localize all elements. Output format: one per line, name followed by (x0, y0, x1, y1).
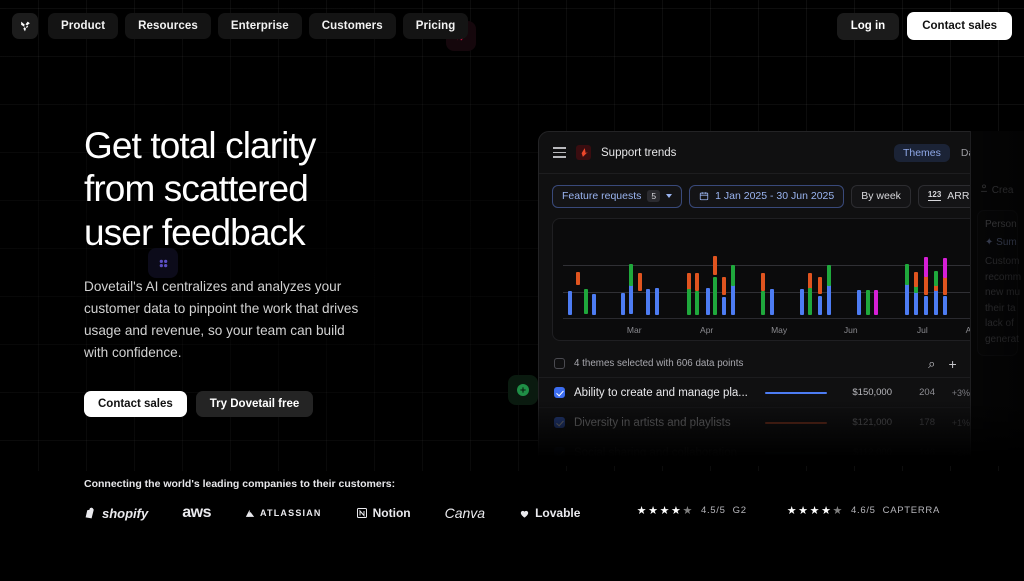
create-label: Crea (992, 185, 1014, 196)
chart-bar (713, 277, 717, 315)
rating-score: 4.6/5 (851, 505, 876, 516)
trend-sparkline (765, 452, 827, 454)
chart-bar (914, 272, 918, 288)
x-axis-tick: Jun (844, 325, 858, 335)
chart-bar (761, 273, 765, 291)
nav-item-product[interactable]: Product (48, 13, 118, 39)
summary-body: Customrecommnew mutheir talack ofgenerat (985, 254, 1010, 347)
theme-value: $112,000 (836, 447, 892, 458)
theme-delta: +3% (944, 388, 970, 398)
chart-bar (722, 277, 726, 295)
chart-bar (800, 289, 804, 315)
notion-logo: Notion (356, 506, 411, 520)
chart-bar (914, 289, 918, 315)
chart-bar (943, 277, 947, 295)
chart-bar (924, 276, 928, 295)
chart-baseline (563, 318, 977, 319)
dashboard-card: Support trends Themes Data points Featur… (538, 131, 1024, 465)
hamburger-menu-icon[interactable] (553, 147, 566, 157)
chart-bar (866, 290, 870, 316)
chart-bar (934, 289, 938, 315)
chart-bar (646, 289, 650, 315)
chart-bar (695, 273, 699, 290)
footer-label: Connecting the world's leading companies… (84, 478, 395, 490)
chart-bar (818, 277, 822, 294)
dovetail-logo-icon[interactable] (12, 13, 38, 39)
atlassian-logo: ATLASSIAN (245, 508, 322, 519)
filter-feature-requests[interactable]: Feature requests 5 (552, 185, 682, 208)
date-range-label: 1 Jan 2025 - 30 Jun 2025 (715, 190, 834, 202)
chart-bar (827, 265, 831, 287)
trend-sparkline (765, 392, 827, 394)
chart-bar (629, 264, 633, 287)
chart-bar (934, 271, 938, 287)
sparkle-icon: ✦ (985, 237, 993, 248)
table-rows: Ability to create and manage pla...$150,… (539, 378, 1024, 465)
chart-bar (943, 296, 947, 316)
chart-bar (808, 288, 812, 315)
chart-bar (655, 288, 659, 315)
nav-item-enterprise[interactable]: Enterprise (218, 13, 302, 39)
theme-delta: +1% (944, 418, 970, 428)
login-button[interactable]: Log in (837, 13, 900, 40)
hero-body-text: Dovetail's AI centralizes and analyzes y… (84, 276, 361, 364)
dashboard-title: Support trends (601, 147, 676, 159)
persona-card: Person ✦ Sum Customrecommnew mutheir tal… (977, 210, 1018, 356)
hero-buttons: Contact sales Try Dovetail free (84, 391, 484, 417)
select-all-checkbox[interactable] (554, 358, 565, 369)
calendar-icon (699, 191, 709, 201)
summary-line: their ta (985, 301, 1010, 317)
rating-source: CAPTERRA (883, 505, 940, 516)
nav-item-customers[interactable]: Customers (309, 13, 396, 39)
numbers-123-icon: 123 (928, 191, 941, 201)
hero-try-free-button[interactable]: Try Dovetail free (196, 391, 313, 417)
interval-selector[interactable]: By week (851, 185, 911, 208)
canva-logo: Canva (445, 505, 485, 521)
theme-count: 204 (901, 387, 935, 398)
chart-bar (924, 257, 928, 277)
theme-count: 178 (901, 417, 935, 428)
filter-label: Feature requests (562, 190, 641, 202)
chart-bar (874, 290, 878, 315)
summary-label: ✦ Sum (985, 237, 1010, 248)
chart-bar (695, 291, 699, 316)
heading-line-3: user feedback (84, 212, 305, 253)
table-header: 4 themes selected with 606 data points ⌕… (539, 350, 1024, 378)
chart-gridline (563, 265, 977, 266)
theme-delta: +2% (944, 448, 970, 458)
summary-text: Sum (996, 237, 1017, 248)
chart-bar (592, 294, 596, 315)
rating-score: 4.5/5 (701, 505, 726, 516)
summary-line: Custom (985, 254, 1010, 270)
star-icons: ★★★★★ (787, 504, 844, 517)
dovetail-mark-icon (576, 145, 591, 160)
heading-line-1: Get total clarity (84, 125, 315, 166)
add-icon[interactable]: + (948, 357, 956, 371)
atlassian-logo-text: ATLASSIAN (260, 508, 322, 518)
nav-items: ProductResourcesEnterpriseCustomersPrici… (48, 13, 475, 39)
chart-bar (761, 291, 765, 316)
row-checkbox[interactable] (554, 417, 565, 428)
search-icon[interactable]: ⌕ (928, 357, 935, 370)
summary-line: generat (985, 332, 1010, 348)
theme-value: $121,000 (836, 417, 892, 428)
chart-bar (687, 289, 691, 315)
table-row[interactable]: Social sharing and collaboration$112,000… (539, 438, 1024, 465)
x-axis-tick: Jul (917, 325, 928, 335)
chart-bar (621, 293, 625, 316)
chart-bar (731, 265, 735, 286)
contact-sales-button[interactable]: Contact sales (907, 12, 1012, 40)
shopify-logo: shopify (84, 506, 148, 521)
table-row[interactable]: Ability to create and manage pla...$150,… (539, 378, 1024, 408)
table-row[interactable]: Diversity in artists and playlists$121,0… (539, 408, 1024, 438)
shopify-logo-text: shopify (102, 506, 148, 521)
row-checkbox[interactable] (554, 387, 565, 398)
themes-table: 4 themes selected with 606 data points ⌕… (539, 350, 1024, 465)
canva-logo-text: Canva (445, 505, 485, 521)
trend-sparkline (765, 422, 827, 424)
chart-bar (687, 273, 691, 290)
theme-value: $150,000 (836, 387, 892, 398)
chart-bar (706, 288, 710, 315)
chart-bar (905, 264, 909, 285)
create-row[interactable]: Crea (971, 131, 1024, 206)
zendesk-icon (508, 375, 538, 405)
nav-item-resources[interactable]: Resources (125, 13, 211, 39)
top-navigation: ProductResourcesEnterpriseCustomersPrici… (0, 0, 1024, 52)
theme-name: Social sharing and collaboration (574, 447, 756, 459)
persona-label: Person (985, 219, 1010, 230)
chart-bar (857, 290, 861, 316)
chart-bar (713, 256, 717, 274)
page-title: Get total clarity from scattered user fe… (84, 124, 484, 254)
chart-bar (722, 297, 726, 315)
row-checkbox[interactable] (554, 447, 565, 458)
hero-section: Get total clarity from scattered user fe… (84, 124, 484, 417)
summary-line: lack of (985, 316, 1010, 332)
chart-bar (638, 273, 642, 291)
lovable-logo-text: Lovable (535, 506, 580, 520)
star-icons: ★★★★★ (637, 504, 694, 517)
tab-themes[interactable]: Themes (894, 144, 950, 162)
capterra-rating: ★★★★★4.6/5CAPTERRA (787, 504, 940, 517)
insights-side-panel: Crea Person ✦ Sum Customrecommnew muthei… (970, 131, 1024, 465)
chart-bar (568, 291, 572, 316)
x-axis-tick: Mar (627, 325, 642, 335)
summary-line: new mu (985, 285, 1010, 301)
chart-bar (924, 296, 928, 316)
chart-bar (576, 272, 580, 286)
selection-summary: 4 themes selected with 606 data points (574, 358, 743, 369)
filter-count-badge: 5 (647, 190, 660, 202)
rating-badges: ★★★★★4.5/5G2★★★★★4.6/5CAPTERRA (637, 504, 940, 517)
heading-line-2: from scattered (84, 168, 308, 209)
chart-plot-area (563, 231, 977, 318)
chevron-down-icon (666, 194, 672, 198)
dashboard-toolbar: Feature requests 5 1 Jan 2025 - 30 Jun 2… (539, 174, 1024, 218)
date-range-picker[interactable]: 1 Jan 2025 - 30 Jun 2025 (689, 185, 844, 208)
nav-item-pricing[interactable]: Pricing (403, 13, 469, 39)
theme-count: 146 (901, 447, 935, 458)
g2-rating: ★★★★★4.5/5G2 (637, 504, 747, 517)
aws-logo: aws (182, 504, 211, 522)
summary-line: recomm (985, 270, 1010, 286)
person-icon (979, 183, 989, 193)
rating-source: G2 (733, 505, 747, 516)
theme-name: Ability to create and manage pla... (574, 387, 756, 399)
chart-bar (584, 289, 588, 314)
hero-contact-sales-button[interactable]: Contact sales (84, 391, 187, 417)
logo-footer: Connecting the world's leading companies… (0, 471, 1024, 581)
chart-bar (818, 296, 822, 316)
x-axis-tick: Apr (700, 325, 713, 335)
dashboard-header: Support trends Themes Data points (539, 132, 1024, 174)
lovable-logo: Lovable (519, 506, 580, 520)
chart-bar (770, 289, 774, 315)
chart-bar (943, 258, 947, 279)
metric-label: ARR (947, 190, 969, 202)
aws-logo-text: aws (182, 504, 211, 522)
x-axis-tick: May (771, 325, 787, 335)
notion-logo-text: Notion (373, 506, 411, 520)
theme-name: Diversity in artists and playlists (574, 417, 756, 429)
customer-logos: shopifyawsATLASSIANNotionCanvaLovable (84, 504, 580, 522)
trends-chart[interactable]: 50100150MarAprMayJunJulAu (552, 218, 1024, 341)
